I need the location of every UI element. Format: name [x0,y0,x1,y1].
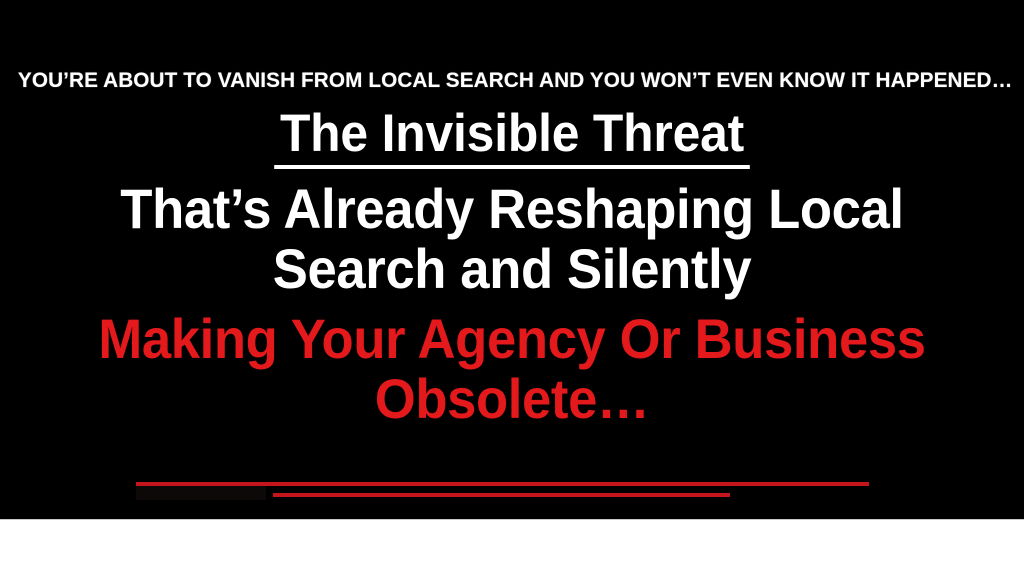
video-slide-frame: YOU’RE ABOUT TO VANISH FROM LOCAL SEARCH… [0,0,1024,576]
slide-content: YOU’RE ABOUT TO VANISH FROM LOCAL SEARCH… [0,57,1024,519]
headline-block: The Invisible Threat That’s Already Resh… [0,107,1024,427]
letterbox-bar-top [0,0,1024,57]
headline-line-1-underlined-text: The Invisible Threat [274,107,749,169]
headline-line-1: The Invisible Threat [31,107,994,169]
compression-artifact-block [136,486,266,500]
divider-rule-lower [273,493,730,497]
headline-line-5-emphasis-red: Obsolete… [31,371,994,427]
headline-line-4-emphasis-red: Making Your Agency Or Business [31,311,994,367]
headline-line-2: That’s Already Reshaping Local [31,181,994,237]
letterbox-bar-bottom [0,519,1024,576]
divider-rule-upper [136,482,869,486]
headline-line-3: Search and Silently [31,241,994,297]
kicker-text: YOU’RE ABOUT TO VANISH FROM LOCAL SEARCH… [18,70,1006,92]
